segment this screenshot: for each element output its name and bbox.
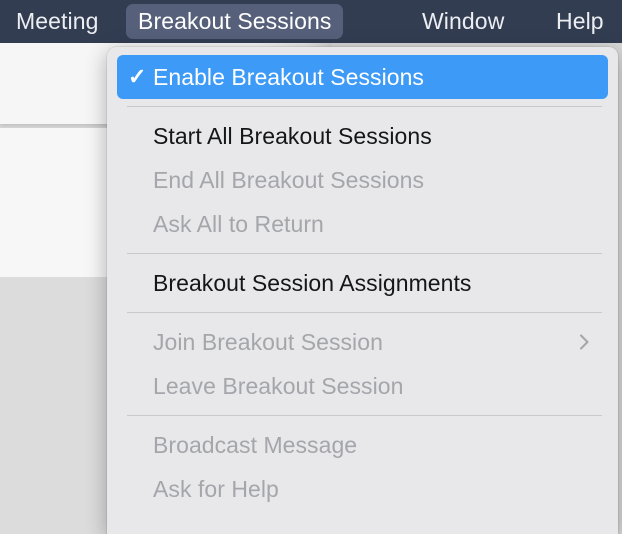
menu-item-broadcast-message: Broadcast Message <box>117 423 608 467</box>
chevron-right-icon <box>578 332 591 352</box>
menubar-item-meeting[interactable]: Meeting <box>4 4 111 39</box>
menu-item-label: Leave Breakout Session <box>153 373 403 400</box>
menu-item-label: Ask All to Return <box>153 211 324 238</box>
menu-item-end-all-breakout-sessions: End All Breakout Sessions <box>117 158 608 202</box>
menu-item-start-all-breakout-sessions[interactable]: Start All Breakout Sessions <box>117 114 608 158</box>
menu-separator <box>127 106 602 107</box>
menu-item-leave-breakout-session: Leave Breakout Session <box>117 364 608 408</box>
menu-item-label: Join Breakout Session <box>153 329 383 356</box>
menu-separator <box>127 312 602 313</box>
menu-item-label: Enable Breakout Sessions <box>153 64 424 91</box>
menu-item-ask-all-to-return: Ask All to Return <box>117 202 608 246</box>
menu-item-label: Broadcast Message <box>153 432 357 459</box>
menubar-item-help[interactable]: Help <box>544 4 616 39</box>
menubar-item-window[interactable]: Window <box>410 4 516 39</box>
menu-item-label: Ask for Help <box>153 476 279 503</box>
menu-separator <box>127 253 602 254</box>
breakout-sessions-dropdown-menu: ✓Enable Breakout SessionsStart All Break… <box>107 47 618 534</box>
menu-separator <box>127 415 602 416</box>
checkmark-icon: ✓ <box>128 66 146 88</box>
menu-item-join-breakout-session: Join Breakout Session <box>117 320 608 364</box>
menu-item-label: Breakout Session Assignments <box>153 270 471 297</box>
menubar-item-breakout-sessions[interactable]: Breakout Sessions <box>126 4 343 39</box>
menu-bar: MeetingBreakout SessionsWindowHelp <box>0 0 622 43</box>
menu-item-label: Start All Breakout Sessions <box>153 123 432 150</box>
menu-item-enable-breakout-sessions[interactable]: ✓Enable Breakout Sessions <box>117 55 608 99</box>
menu-item-ask-for-help: Ask for Help <box>117 467 608 511</box>
menu-item-breakout-session-assignments[interactable]: Breakout Session Assignments <box>117 261 608 305</box>
menu-item-label: End All Breakout Sessions <box>153 167 424 194</box>
